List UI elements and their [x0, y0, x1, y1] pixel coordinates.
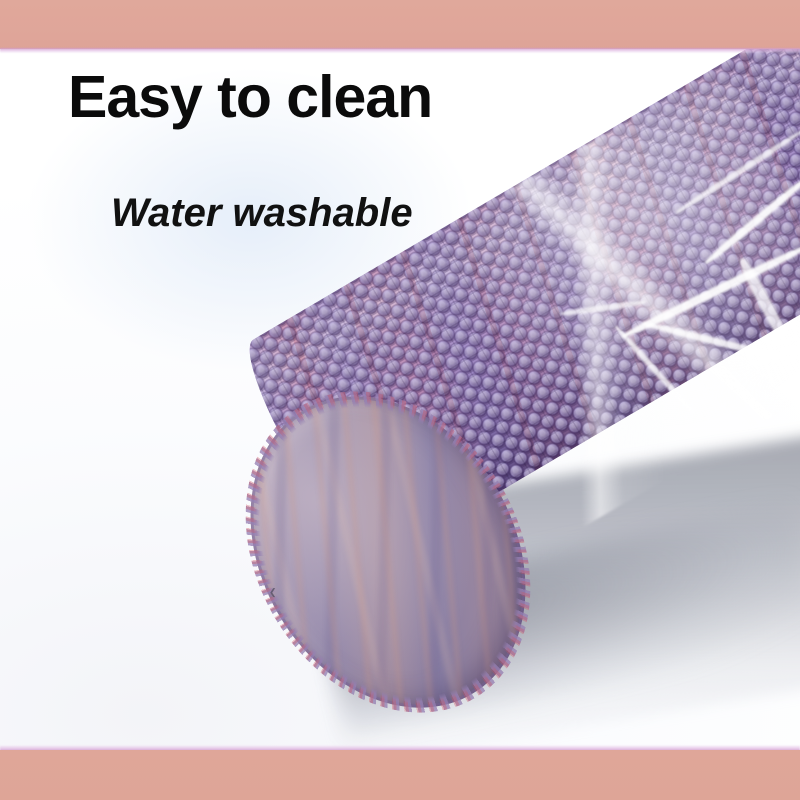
bottom-pink-band [0, 750, 800, 800]
foam-roller [0, 49, 800, 750]
top-band-edge [0, 48, 800, 53]
top-pink-band [0, 0, 800, 49]
product-image-canvas: ❮ Easy to clean Water washable [0, 0, 800, 800]
plastic-wrap-crinkle [748, 338, 800, 368]
headline-text: Easy to clean [68, 63, 432, 131]
subheadline-text: Water washable [111, 191, 413, 236]
product-photo: ❮ [0, 49, 800, 750]
dust-speck: ❮ [269, 589, 276, 595]
